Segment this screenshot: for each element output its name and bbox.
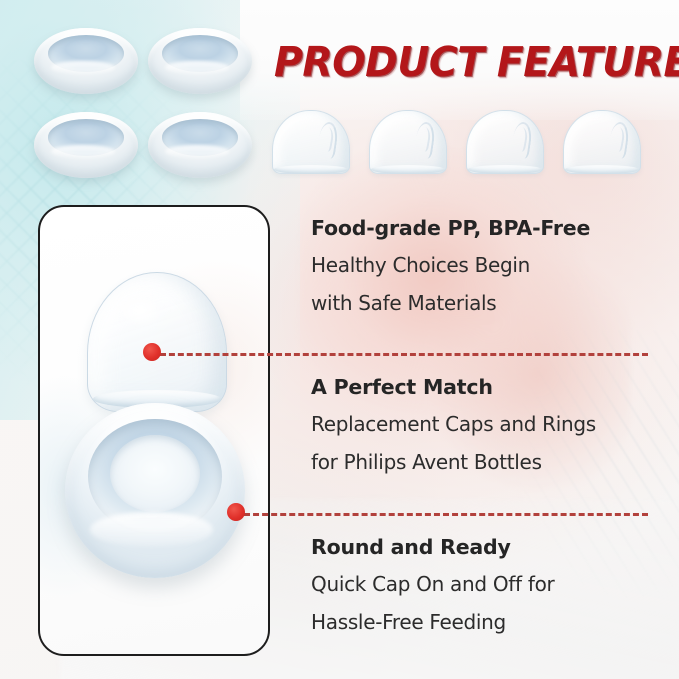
dome-cap-product-1 bbox=[272, 110, 350, 174]
dome-cap-product-2 bbox=[369, 110, 447, 174]
feature-3-line-1: Quick Cap On and Off for bbox=[311, 572, 554, 596]
feature-2-title: A Perfect Match bbox=[311, 375, 596, 399]
product-showcase-panel bbox=[38, 205, 270, 656]
dome-rim bbox=[468, 165, 543, 174]
product-features-infographic: PRODUCT FEATURES bbox=[0, 0, 679, 679]
dome-rim bbox=[371, 165, 446, 174]
dome-cap-closeup bbox=[87, 272, 227, 412]
dome-highlight bbox=[115, 294, 177, 336]
dome-cap-product-4 bbox=[563, 110, 641, 174]
feature-2-line-1: Replacement Caps and Rings bbox=[311, 412, 596, 436]
screw-ring-product-1 bbox=[34, 28, 138, 94]
feature-2-line-2: for Philips Avent Bottles bbox=[311, 450, 596, 474]
screw-ring-product-2 bbox=[148, 28, 252, 94]
feature-3-line-2: Hassle-Free Feeding bbox=[311, 610, 554, 634]
ring-gloss bbox=[90, 512, 212, 547]
feature-1-line-2: with Safe Materials bbox=[311, 291, 590, 315]
feature-1-title: Food-grade PP, BPA-Free bbox=[311, 216, 590, 240]
marker-dot-dome bbox=[143, 343, 161, 361]
dome-rim bbox=[274, 165, 349, 174]
screw-ring-product-3 bbox=[34, 112, 138, 178]
feature-1-line-1: Healthy Choices Begin bbox=[311, 253, 590, 277]
page-title: PRODUCT FEATURES bbox=[274, 38, 679, 86]
connector-line-1 bbox=[160, 353, 648, 356]
ring-center-well bbox=[110, 435, 200, 512]
feature-block-2: A Perfect Match Replacement Caps and Rin… bbox=[311, 375, 596, 474]
connector-line-2 bbox=[244, 513, 648, 516]
feature-3-title: Round and Ready bbox=[311, 535, 554, 559]
dome-cap-product-3 bbox=[466, 110, 544, 174]
dome-rim bbox=[565, 165, 640, 174]
screw-ring-closeup bbox=[65, 403, 245, 578]
marker-dot-ring bbox=[227, 503, 245, 521]
screw-ring-product-4 bbox=[148, 112, 252, 178]
feature-block-1: Food-grade PP, BPA-Free Healthy Choices … bbox=[311, 216, 590, 315]
feature-block-3: Round and Ready Quick Cap On and Off for… bbox=[311, 535, 554, 634]
